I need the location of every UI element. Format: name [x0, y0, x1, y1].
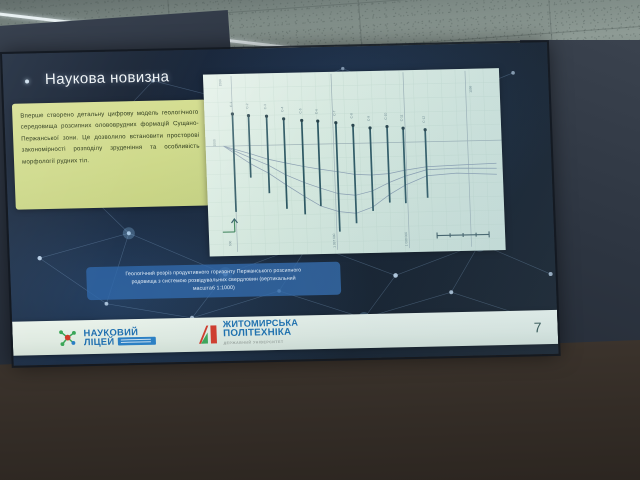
svg-text:1000: 1000 — [212, 139, 216, 146]
svg-text:C-10: C-10 — [383, 112, 387, 119]
zhytomyrska-politekhnika-logo: ЖИТОМИРСЬКА ПОЛІТЕХНІКА ДЕРЖАВНИЙ УНІВЕР… — [195, 318, 299, 349]
page-title: Наукова новизна — [45, 68, 170, 88]
logo-left-bar — [117, 336, 155, 345]
photo-scene: Наукова новизна Вперше створено детальну… — [0, 0, 640, 480]
molecule-icon — [56, 326, 79, 348]
politekhnika-text: ЖИТОМИРСЬКА ПОЛІТЕХНІКА ДЕРЖАВНИЙ УНІВЕР… — [223, 318, 299, 348]
logo-right-line3: ДЕРЖАВНИЙ УНІВЕРСИТЕТ — [223, 337, 299, 348]
svg-text:1500: 1500 — [218, 79, 222, 86]
title-bullet-icon — [25, 79, 29, 83]
svg-text:C-2: C-2 — [245, 103, 249, 108]
svg-text:C-9: C-9 — [367, 116, 371, 121]
logo-right-line2: ПОЛІТЕХНІКА — [223, 328, 299, 339]
naukovyi-litsei-text: НАУКОВИЙ ЛІЦЕЙ — [83, 326, 155, 347]
politekhnika-emblem-icon — [195, 323, 220, 346]
chart-caption-box: Геологічний розріз продуктивного горизон… — [86, 262, 341, 300]
logo-left-line2: ЛІЦЕЙ — [84, 337, 115, 347]
svg-text:C-12: C-12 — [422, 116, 426, 123]
projection-screen: Наукова новизна Вперше створено детальну… — [2, 42, 559, 366]
scale-bar — [437, 231, 489, 238]
novelty-body-text: Вперше створено детальну цифрову модель … — [20, 107, 200, 168]
svg-text:C-8: C-8 — [349, 113, 353, 118]
presentation-slide: Наукова новизна Вперше створено детальну… — [2, 42, 559, 366]
svg-text:C-3: C-3 — [263, 104, 267, 109]
svg-text:C-7: C-7 — [332, 110, 336, 115]
svg-text:C-11: C-11 — [400, 114, 404, 121]
svg-text:C-6: C-6 — [314, 109, 318, 114]
novelty-text-box: Вперше створено детальну цифрову модель … — [12, 100, 210, 210]
slide-number: 7 — [533, 310, 542, 344]
svg-text:C-5: C-5 — [298, 108, 302, 113]
svg-text:500: 500 — [228, 240, 232, 246]
svg-text:1 097 000: 1 097 000 — [332, 233, 337, 247]
svg-text:C-4: C-4 — [280, 106, 284, 111]
svg-text:C-1: C-1 — [229, 102, 233, 107]
cross-section-svg: C-1 C-2 C-3 C-4 C-5 C-6 C-7 C-8 C-9 C-10… — [203, 68, 506, 256]
geological-cross-section-chart: C-1 C-2 C-3 C-4 C-5 C-6 C-7 C-8 C-9 C-10… — [203, 68, 506, 256]
svg-text:1 098 000: 1 098 000 — [404, 232, 409, 246]
svg-text:1099: 1099 — [469, 85, 473, 92]
naukovyi-litsei-logo: НАУКОВИЙ ЛІЦЕЙ — [56, 325, 155, 349]
